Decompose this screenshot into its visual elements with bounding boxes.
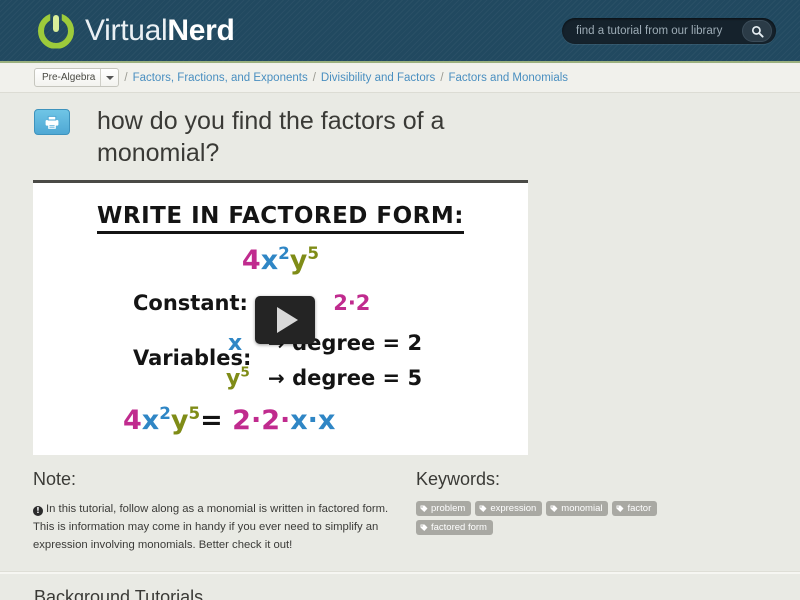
keyword-tag-list: problem expression monomial factor facto…	[416, 501, 696, 535]
constant-value: 2·2	[333, 291, 370, 315]
variable-y-exp: 5	[240, 365, 249, 381]
final-rhs-numbers: 2·2·	[232, 405, 290, 436]
tag-icon	[550, 505, 558, 513]
final-x: x	[142, 405, 159, 436]
arrow-icon: →	[268, 366, 285, 390]
note-heading: Note:	[33, 469, 408, 490]
monomial-x-exp: 2	[278, 243, 290, 263]
note-body: !In this tutorial, follow along as a mon…	[33, 501, 408, 555]
monomial-y: y	[290, 245, 308, 276]
select-divider	[100, 69, 101, 86]
play-button[interactable]	[255, 296, 315, 344]
breadcrumb-separator: /	[313, 72, 316, 84]
board-heading-text: WRITE IN FACTORED FORM:	[97, 203, 464, 234]
keyword-tag[interactable]: factored form	[416, 520, 493, 535]
logo-wordmark: VirtualNerd	[85, 16, 235, 46]
breadcrumb-separator: /	[440, 72, 443, 84]
board-monomial: 4x2y5	[33, 245, 528, 276]
play-icon	[277, 307, 298, 333]
degree-y-text: degree = 5	[292, 366, 422, 390]
keywords-heading: Keywords:	[416, 469, 696, 490]
final-coef: 4	[123, 405, 142, 436]
breadcrumb-separator: /	[124, 72, 127, 84]
final-equation: 4x2y5= 2·2·x·x	[123, 405, 335, 436]
note-section: Note: !In this tutorial, follow along as…	[33, 469, 408, 555]
background-tutorials-heading: Background Tutorials	[0, 574, 800, 600]
monomial-y-exp: 5	[307, 243, 319, 263]
logo-word-nerd: Nerd	[167, 14, 234, 47]
constant-label: Constant:	[133, 291, 248, 315]
equals-sign: =	[200, 405, 223, 436]
final-y-exp: 5	[188, 403, 200, 423]
keyword-tag[interactable]: factor	[612, 501, 657, 516]
board-heading: WRITE IN FACTORED FORM:	[33, 203, 528, 229]
video-whiteboard[interactable]: WRITE IN FACTORED FORM: 4x2y5 Constant: …	[33, 180, 528, 455]
variable-y: y5	[226, 366, 250, 391]
page-title: how do you find the factors of a monomia…	[97, 105, 537, 169]
keyword-tag-label: factor	[627, 503, 651, 514]
chevron-down-icon	[106, 76, 114, 80]
keywords-section: Keywords: problem expression monomial fa…	[416, 469, 696, 555]
info-icon: !	[33, 506, 43, 516]
keyword-tag[interactable]: monomial	[546, 501, 608, 516]
print-button[interactable]	[34, 109, 70, 135]
search-icon	[751, 25, 764, 38]
final-x-exp: 2	[159, 403, 171, 423]
site-logo[interactable]: VirtualNerd	[36, 11, 235, 51]
keyword-tag-label: monomial	[561, 503, 602, 514]
breadcrumb-link-1[interactable]: Factors, Fractions, and Exponents	[133, 72, 308, 84]
monomial-x: x	[261, 245, 278, 276]
power-logo-icon	[36, 11, 76, 51]
tag-icon	[616, 505, 624, 513]
site-header: VirtualNerd	[0, 0, 800, 63]
keyword-tag-label: expression	[490, 503, 536, 514]
breadcrumb: Pre-Algebra / Factors, Fractions, and Ex…	[0, 63, 800, 93]
title-row: how do you find the factors of a monomia…	[0, 93, 800, 169]
keyword-tag[interactable]: problem	[416, 501, 471, 516]
constant-row: Constant: 2·2	[133, 291, 370, 315]
variable-x: x	[228, 331, 242, 356]
final-y: y	[171, 405, 189, 436]
final-rhs-variables: x·x	[290, 405, 335, 436]
keyword-tag-label: factored form	[431, 522, 487, 533]
search-button[interactable]	[742, 20, 772, 42]
monomial-coef: 4	[242, 245, 261, 276]
search-input[interactable]	[562, 25, 742, 37]
tag-icon	[420, 524, 428, 532]
breadcrumb-link-3[interactable]: Factors and Monomials	[449, 72, 569, 84]
subject-select-label: Pre-Algebra	[42, 72, 95, 83]
variable-x-letter: x	[228, 331, 242, 356]
keyword-tag-label: problem	[431, 503, 465, 514]
search-box[interactable]	[562, 18, 776, 44]
info-row: Note: !In this tutorial, follow along as…	[33, 469, 753, 555]
printer-icon	[44, 115, 60, 130]
tag-icon	[479, 505, 487, 513]
note-text: In this tutorial, follow along as a mono…	[33, 503, 388, 551]
variable-y-letter: y	[226, 366, 240, 391]
breadcrumb-link-2[interactable]: Divisibility and Factors	[321, 72, 435, 84]
degree-y-row: → degree = 5	[268, 366, 422, 390]
main-content: how do you find the factors of a monomia…	[0, 93, 800, 600]
keyword-tag[interactable]: expression	[475, 501, 542, 516]
subject-select[interactable]: Pre-Algebra	[34, 68, 119, 87]
tag-icon	[420, 505, 428, 513]
logo-word-virtual: Virtual	[85, 14, 167, 47]
